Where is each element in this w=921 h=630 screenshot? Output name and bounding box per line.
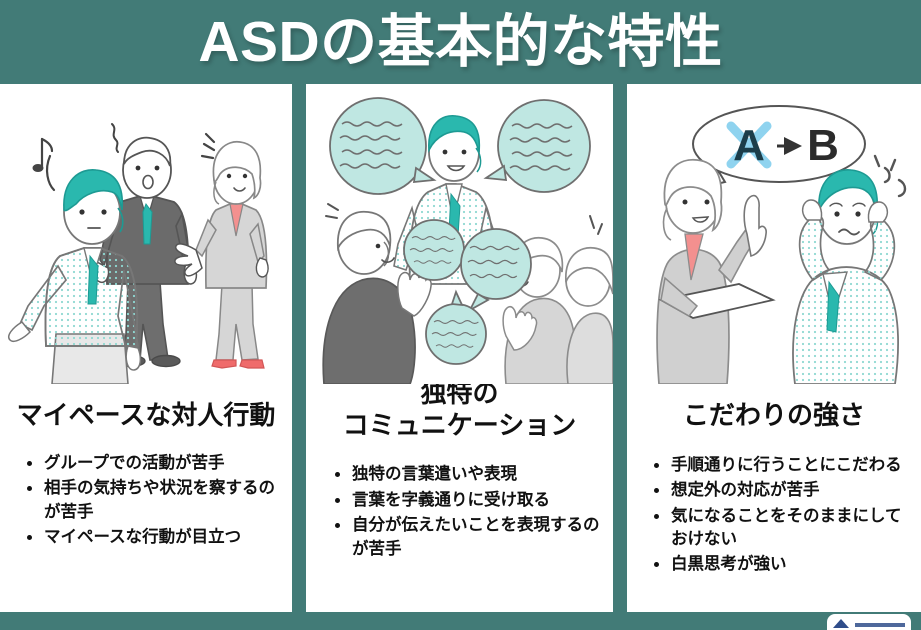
unique-communication-illustration <box>306 84 613 384</box>
my-pace-social-behavior-illustration <box>0 84 292 384</box>
list-item: 自分が伝えたいことを表現するのが苦手 <box>334 514 605 561</box>
column-divider-right <box>613 84 627 612</box>
column-unique-communication: 独特の コミュニケーション 独特の言葉遣いや表現 言葉を字義通りに受け取る 自分… <box>306 84 613 612</box>
list-item: 手順通りに行うことにこだわる <box>653 454 917 477</box>
column-heading-line: マイペースな対人行動 <box>6 400 286 432</box>
columns-container: マイペースな対人行動 グループでの活動が苦手 相手の気持ちや状況を察するのが苦手… <box>0 84 921 612</box>
list-item: マイペースな行動が目立つ <box>26 526 284 549</box>
feature-list: 手順通りに行うことにこだわる 想定外の対応が苦手 気になることをそのままにしてお… <box>653 454 917 579</box>
speech-bubble <box>404 220 464 280</box>
bubble-letter-a: A <box>733 121 765 170</box>
bubble-letter-b: B <box>807 121 839 170</box>
strong-attachment-to-routine-illustration: A B <box>627 84 921 384</box>
list-item: グループでの活動が苦手 <box>26 452 284 475</box>
column-divider-left <box>292 84 306 612</box>
column-heading-line: こだわりの強さ <box>633 400 915 432</box>
list-item: 想定外の対応が苦手 <box>653 479 917 502</box>
list-item: 気になることをそのままにしておけない <box>653 505 917 552</box>
column-heading: マイペースな対人行動 <box>0 400 292 432</box>
list-item: 独特の言葉遣いや表現 <box>334 463 605 486</box>
list-item: 相手の気持ちや状況を察するのが苦手 <box>26 477 284 524</box>
column-strong-attachment-to-routine: A B <box>627 84 921 612</box>
page-title: ASDの基本的な特性 <box>198 14 722 71</box>
list-item: 白黒思考が強い <box>653 553 917 576</box>
column-my-pace-social-behavior: マイペースな対人行動 グループでの活動が苦手 相手の気持ちや状況を察するのが苦手… <box>0 84 292 612</box>
column-heading: 独特の コミュニケーション <box>306 378 613 441</box>
column-heading-line: コミュニケーション <box>312 410 607 442</box>
feature-list: 独特の言葉遣いや表現 言葉を字義通りに受け取る 自分が伝えたいことを表現するのが… <box>334 463 605 563</box>
list-item: 言葉を字義通りに受け取る <box>334 489 605 512</box>
column-heading: こだわりの強さ <box>627 400 921 432</box>
slide-footer <box>0 612 921 630</box>
slide-header: ASDの基本的な特性 <box>0 0 921 84</box>
feature-list: グループでの活動が苦手 相手の気持ちや状況を察するのが苦手 マイペースな行動が目… <box>26 452 284 552</box>
brand-logo <box>827 614 911 630</box>
slide-root: ASDの基本的な特性 <box>0 0 921 630</box>
